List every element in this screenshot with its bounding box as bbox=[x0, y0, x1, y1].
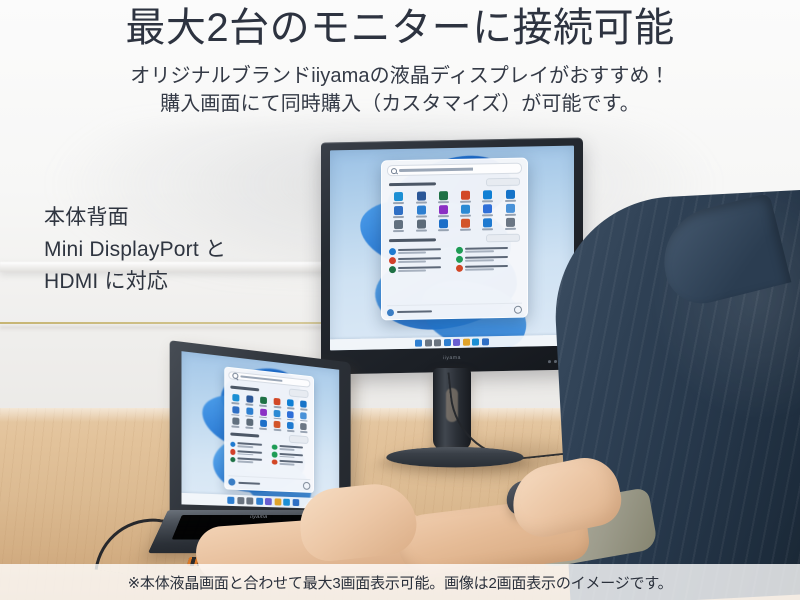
app-label bbox=[416, 201, 427, 203]
app-label bbox=[287, 419, 295, 421]
app-label bbox=[231, 426, 239, 428]
app-label bbox=[460, 229, 471, 231]
port-caption: 本体背面 Mini DisplayPort と HDMI に対応 bbox=[44, 202, 226, 298]
pinned-app[interactable] bbox=[433, 219, 454, 231]
app-icon bbox=[506, 218, 515, 227]
laptop-screen bbox=[181, 351, 339, 509]
app-label bbox=[260, 428, 268, 430]
search-button[interactable] bbox=[425, 339, 432, 346]
recommended-item[interactable] bbox=[272, 444, 309, 452]
pinned-apps-grid bbox=[387, 189, 521, 233]
app-label bbox=[482, 214, 493, 216]
recommended-icon bbox=[389, 257, 396, 264]
pinned-label bbox=[389, 182, 436, 186]
recommended-text bbox=[279, 453, 308, 459]
app-label bbox=[231, 402, 239, 404]
app-icon bbox=[461, 205, 470, 214]
pinned-app[interactable] bbox=[410, 219, 431, 231]
app-label bbox=[300, 431, 307, 433]
pinned-app[interactable] bbox=[388, 192, 409, 204]
recommended-item[interactable] bbox=[230, 457, 269, 465]
app-icon bbox=[246, 407, 253, 415]
app-icon bbox=[461, 191, 470, 200]
app-label bbox=[416, 215, 427, 217]
recommended-list bbox=[387, 245, 521, 274]
power-icon[interactable] bbox=[514, 306, 522, 314]
app-icon bbox=[246, 419, 253, 427]
app-icon bbox=[483, 204, 492, 213]
recommended-text bbox=[237, 458, 268, 464]
recommended-text bbox=[398, 248, 452, 254]
search-icon bbox=[391, 168, 397, 174]
monitor-screen bbox=[330, 146, 574, 351]
recommended-list bbox=[228, 440, 311, 467]
app-icon bbox=[417, 192, 426, 201]
app-icon bbox=[274, 421, 281, 428]
pinned-app[interactable] bbox=[499, 190, 520, 202]
pinned-header bbox=[389, 178, 519, 189]
recommended-item[interactable] bbox=[456, 246, 519, 254]
page-title: 最大2台のモニターに接続可能 bbox=[0, 6, 800, 51]
app-icon bbox=[483, 218, 492, 227]
search-icon bbox=[232, 373, 238, 380]
user-name-label bbox=[397, 310, 432, 313]
subheading-line-1: オリジナルブランドiiyamaの液晶ディスプレイがおすすめ！ bbox=[0, 62, 800, 90]
pinned-app[interactable] bbox=[229, 394, 242, 405]
app-label bbox=[231, 414, 239, 416]
app-icon bbox=[394, 192, 403, 201]
recommended-text bbox=[465, 247, 519, 253]
pinned-app[interactable] bbox=[229, 405, 242, 416]
pinned-app[interactable] bbox=[271, 398, 284, 409]
app-label bbox=[482, 200, 493, 202]
app-label bbox=[482, 228, 493, 230]
app-icon bbox=[260, 420, 267, 428]
port-caption-line-1: 本体背面 bbox=[44, 202, 226, 234]
recommended-icon bbox=[272, 444, 277, 450]
start-button[interactable] bbox=[228, 497, 235, 504]
pinned-app[interactable] bbox=[298, 423, 310, 433]
recommended-icon bbox=[230, 441, 236, 447]
footnote-bar: ※本体液晶画面と合わせて最大3画面表示可能。画像は2画面表示のイメージです。 bbox=[0, 564, 800, 600]
recommended-item[interactable] bbox=[456, 264, 519, 272]
app-label bbox=[416, 229, 427, 231]
app-label bbox=[300, 408, 307, 410]
pinned-app[interactable] bbox=[284, 422, 296, 432]
app-label bbox=[505, 214, 516, 216]
app-icon bbox=[232, 406, 239, 414]
pinned-app[interactable] bbox=[284, 399, 296, 410]
app-label bbox=[460, 201, 471, 203]
app-icon bbox=[394, 206, 403, 215]
pinned-app[interactable] bbox=[455, 219, 476, 231]
app-icon bbox=[274, 409, 281, 417]
recommended-text bbox=[465, 265, 519, 271]
widgets-button[interactable] bbox=[256, 498, 263, 505]
task-view-button[interactable] bbox=[434, 339, 441, 346]
pinned-app[interactable] bbox=[433, 191, 454, 203]
app-icon bbox=[287, 422, 294, 429]
app-icon bbox=[439, 191, 448, 200]
pinned-app[interactable] bbox=[257, 396, 270, 407]
recommended-icon bbox=[456, 265, 463, 272]
user-name-label bbox=[238, 482, 260, 485]
pinned-app[interactable] bbox=[271, 421, 284, 431]
recommended-header bbox=[389, 234, 519, 245]
edge-button[interactable] bbox=[283, 499, 290, 506]
pinned-app[interactable] bbox=[284, 410, 296, 420]
pinned-app[interactable] bbox=[257, 420, 270, 431]
store-button[interactable] bbox=[482, 338, 489, 345]
app-label bbox=[246, 403, 254, 405]
start-menu-footer bbox=[228, 475, 311, 490]
app-icon bbox=[506, 190, 515, 199]
app-label bbox=[287, 430, 295, 432]
more-recommended-button[interactable] bbox=[289, 435, 309, 444]
promo-banner: iiyama bbox=[0, 0, 800, 600]
app-icon bbox=[394, 220, 403, 229]
pinned-app[interactable] bbox=[499, 218, 520, 230]
pinned-app[interactable] bbox=[243, 395, 256, 406]
avatar[interactable] bbox=[228, 479, 235, 486]
store-button[interactable] bbox=[292, 499, 299, 506]
task-view-button[interactable] bbox=[247, 497, 254, 504]
widgets-button[interactable] bbox=[444, 339, 451, 346]
app-label bbox=[260, 416, 268, 418]
recommended-item[interactable] bbox=[272, 452, 309, 460]
pinned-app[interactable] bbox=[455, 205, 476, 217]
recommended-icon bbox=[456, 247, 463, 254]
subheading-line-2: 購入画面にて同時購入（カスタマイズ）が可能です。 bbox=[0, 90, 800, 118]
pinned-label bbox=[230, 385, 259, 391]
pinned-app[interactable] bbox=[229, 417, 242, 428]
pinned-apps-grid bbox=[228, 393, 311, 434]
pinned-app[interactable] bbox=[388, 206, 409, 218]
pinned-app[interactable] bbox=[410, 205, 431, 217]
pinned-app[interactable] bbox=[298, 400, 310, 410]
monitor-brand-logo: iiyama bbox=[443, 355, 461, 361]
footnote-text: ※本体液晶画面と合わせて最大3画面表示可能。画像は2画面表示のイメージです。 bbox=[128, 572, 673, 593]
app-label bbox=[287, 407, 295, 409]
app-icon bbox=[246, 395, 253, 403]
app-icon bbox=[260, 397, 267, 405]
search-placeholder-text bbox=[240, 375, 307, 385]
recommended-item[interactable] bbox=[230, 449, 269, 457]
app-icon bbox=[287, 411, 294, 418]
laptop-brand-logo: iiyama bbox=[249, 514, 268, 520]
recommended-text bbox=[398, 257, 452, 263]
pinned-app[interactable] bbox=[243, 407, 256, 418]
app-label bbox=[300, 420, 307, 422]
app-label bbox=[393, 216, 404, 218]
chat-button[interactable] bbox=[265, 498, 272, 505]
pinned-app[interactable] bbox=[477, 204, 498, 216]
explorer-button[interactable] bbox=[463, 339, 470, 346]
external-monitor: iiyama bbox=[321, 140, 583, 372]
app-icon bbox=[232, 394, 239, 402]
app-icon bbox=[287, 399, 294, 407]
app-label bbox=[505, 228, 516, 230]
port-caption-line-2: Mini DisplayPort と bbox=[44, 234, 226, 266]
pinned-app[interactable] bbox=[243, 418, 256, 429]
app-label bbox=[393, 230, 404, 232]
more-recommended-button[interactable] bbox=[486, 234, 519, 243]
recommended-icon bbox=[389, 266, 396, 273]
recommended-item[interactable] bbox=[272, 459, 309, 467]
chat-button[interactable] bbox=[453, 339, 460, 346]
app-icon bbox=[232, 417, 239, 425]
recommended-icon bbox=[230, 449, 236, 455]
app-icon bbox=[274, 398, 281, 406]
start-menu-panel[interactable] bbox=[224, 367, 315, 493]
pinned-app[interactable] bbox=[477, 190, 498, 202]
recommended-text bbox=[465, 256, 519, 262]
app-label bbox=[273, 417, 281, 419]
recommended-icon bbox=[272, 452, 277, 458]
all-apps-button[interactable] bbox=[486, 178, 519, 187]
start-menu-panel[interactable] bbox=[381, 158, 527, 321]
start-search-input[interactable] bbox=[387, 163, 521, 177]
recommended-icon bbox=[272, 459, 277, 465]
recommended-item[interactable] bbox=[389, 265, 452, 273]
pinned-app[interactable] bbox=[499, 204, 520, 216]
app-icon bbox=[506, 204, 515, 213]
subheading: オリジナルブランドiiyamaの液晶ディスプレイがおすすめ！ 購入画面にて同時購… bbox=[0, 62, 800, 119]
app-icon bbox=[439, 219, 448, 228]
recommended-label bbox=[389, 238, 436, 242]
start-menu-footer bbox=[387, 303, 521, 317]
app-icon bbox=[417, 206, 426, 215]
app-label bbox=[438, 215, 449, 217]
recommended-item[interactable] bbox=[230, 441, 269, 449]
app-label bbox=[393, 202, 404, 204]
recommended-text bbox=[279, 445, 308, 451]
power-icon[interactable] bbox=[303, 482, 310, 490]
recommended-text bbox=[398, 266, 452, 272]
app-label bbox=[273, 429, 281, 431]
pinned-app[interactable] bbox=[477, 218, 498, 230]
recommended-icon bbox=[456, 256, 463, 263]
pinned-app[interactable] bbox=[388, 220, 409, 232]
app-label bbox=[246, 415, 254, 417]
start-button[interactable] bbox=[415, 340, 422, 347]
recommended-icon bbox=[389, 248, 396, 255]
recommended-text bbox=[237, 442, 268, 449]
app-icon bbox=[300, 423, 306, 430]
app-icon bbox=[300, 401, 306, 408]
port-caption-line-3: HDMI に対応 bbox=[44, 266, 226, 298]
app-label bbox=[260, 405, 268, 407]
app-icon bbox=[417, 220, 426, 229]
app-icon bbox=[300, 412, 306, 419]
app-icon bbox=[483, 190, 492, 199]
recommended-label bbox=[230, 433, 259, 438]
app-label bbox=[438, 201, 449, 203]
app-label bbox=[273, 406, 281, 408]
all-apps-button[interactable] bbox=[289, 389, 309, 399]
app-icon bbox=[461, 219, 470, 228]
edge-button[interactable] bbox=[472, 338, 479, 345]
recommended-icon bbox=[230, 457, 236, 463]
pinned-app[interactable] bbox=[410, 191, 431, 203]
app-icon bbox=[439, 205, 448, 214]
pinned-app[interactable] bbox=[271, 409, 284, 420]
pinned-app[interactable] bbox=[257, 408, 270, 419]
pinned-app[interactable] bbox=[298, 412, 310, 422]
app-icon bbox=[260, 408, 267, 416]
recommended-item[interactable] bbox=[389, 256, 452, 264]
explorer-button[interactable] bbox=[274, 498, 281, 505]
search-button[interactable] bbox=[237, 497, 244, 504]
search-placeholder-text bbox=[399, 167, 517, 172]
recommended-text bbox=[237, 450, 268, 457]
app-label bbox=[505, 200, 516, 202]
app-label bbox=[438, 229, 449, 231]
recommended-item[interactable] bbox=[389, 247, 452, 255]
recommended-item[interactable] bbox=[456, 255, 519, 263]
app-label bbox=[246, 427, 254, 429]
pinned-app[interactable] bbox=[433, 205, 454, 217]
pinned-app[interactable] bbox=[455, 191, 476, 203]
avatar[interactable] bbox=[387, 309, 394, 316]
app-label bbox=[460, 215, 471, 217]
recommended-text bbox=[279, 460, 308, 466]
